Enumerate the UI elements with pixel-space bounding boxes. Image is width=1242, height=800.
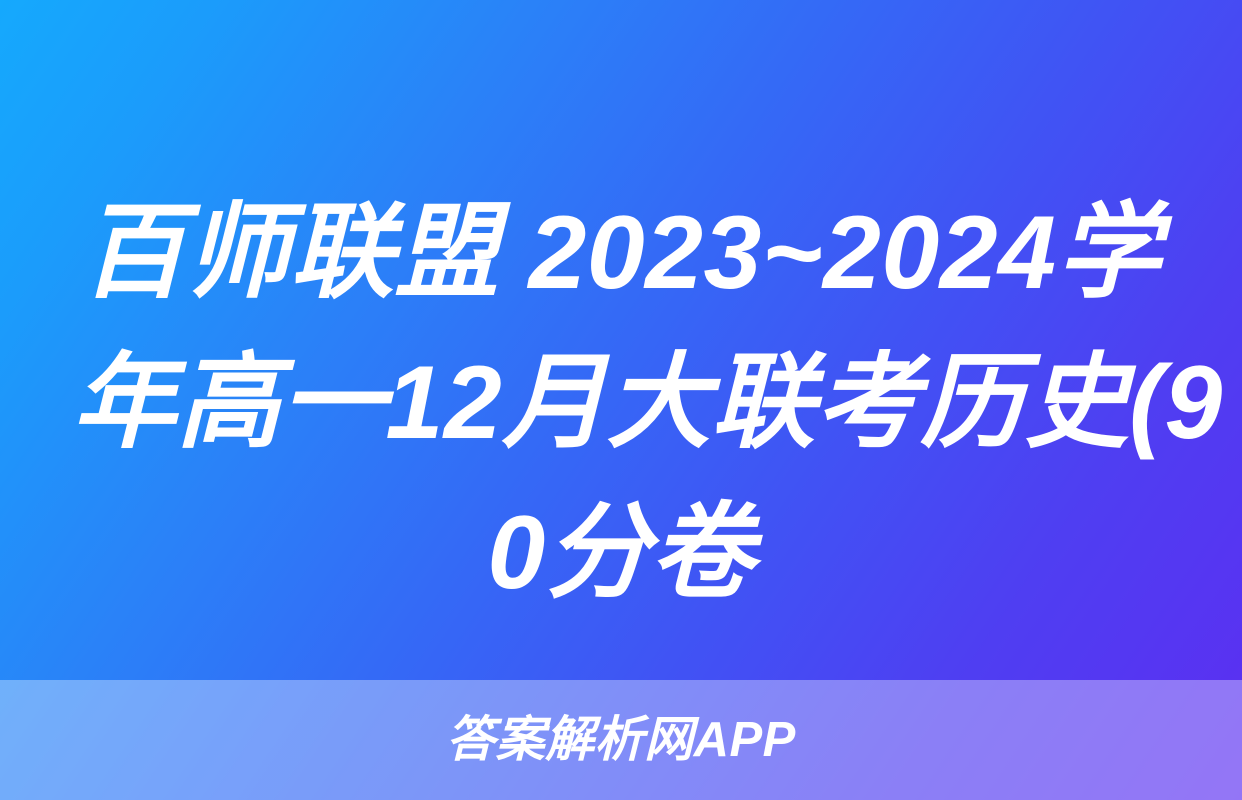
title-line-3: 0分卷 — [72, 478, 1170, 628]
poster-card: 百师联盟 2023~2024学 年高一12月大联考历史(9 0分卷 答案解析网A… — [0, 0, 1242, 800]
watermark-band: 答案解析网APP — [0, 680, 1242, 800]
page-title: 百师联盟 2023~2024学 年高一12月大联考历史(9 0分卷 — [0, 178, 1242, 628]
watermark-app-label: 答案解析网APP — [446, 716, 796, 765]
title-line-2: 年高一12月大联考历史(9 — [72, 328, 1170, 478]
title-line-1: 百师联盟 2023~2024学 — [72, 178, 1170, 328]
